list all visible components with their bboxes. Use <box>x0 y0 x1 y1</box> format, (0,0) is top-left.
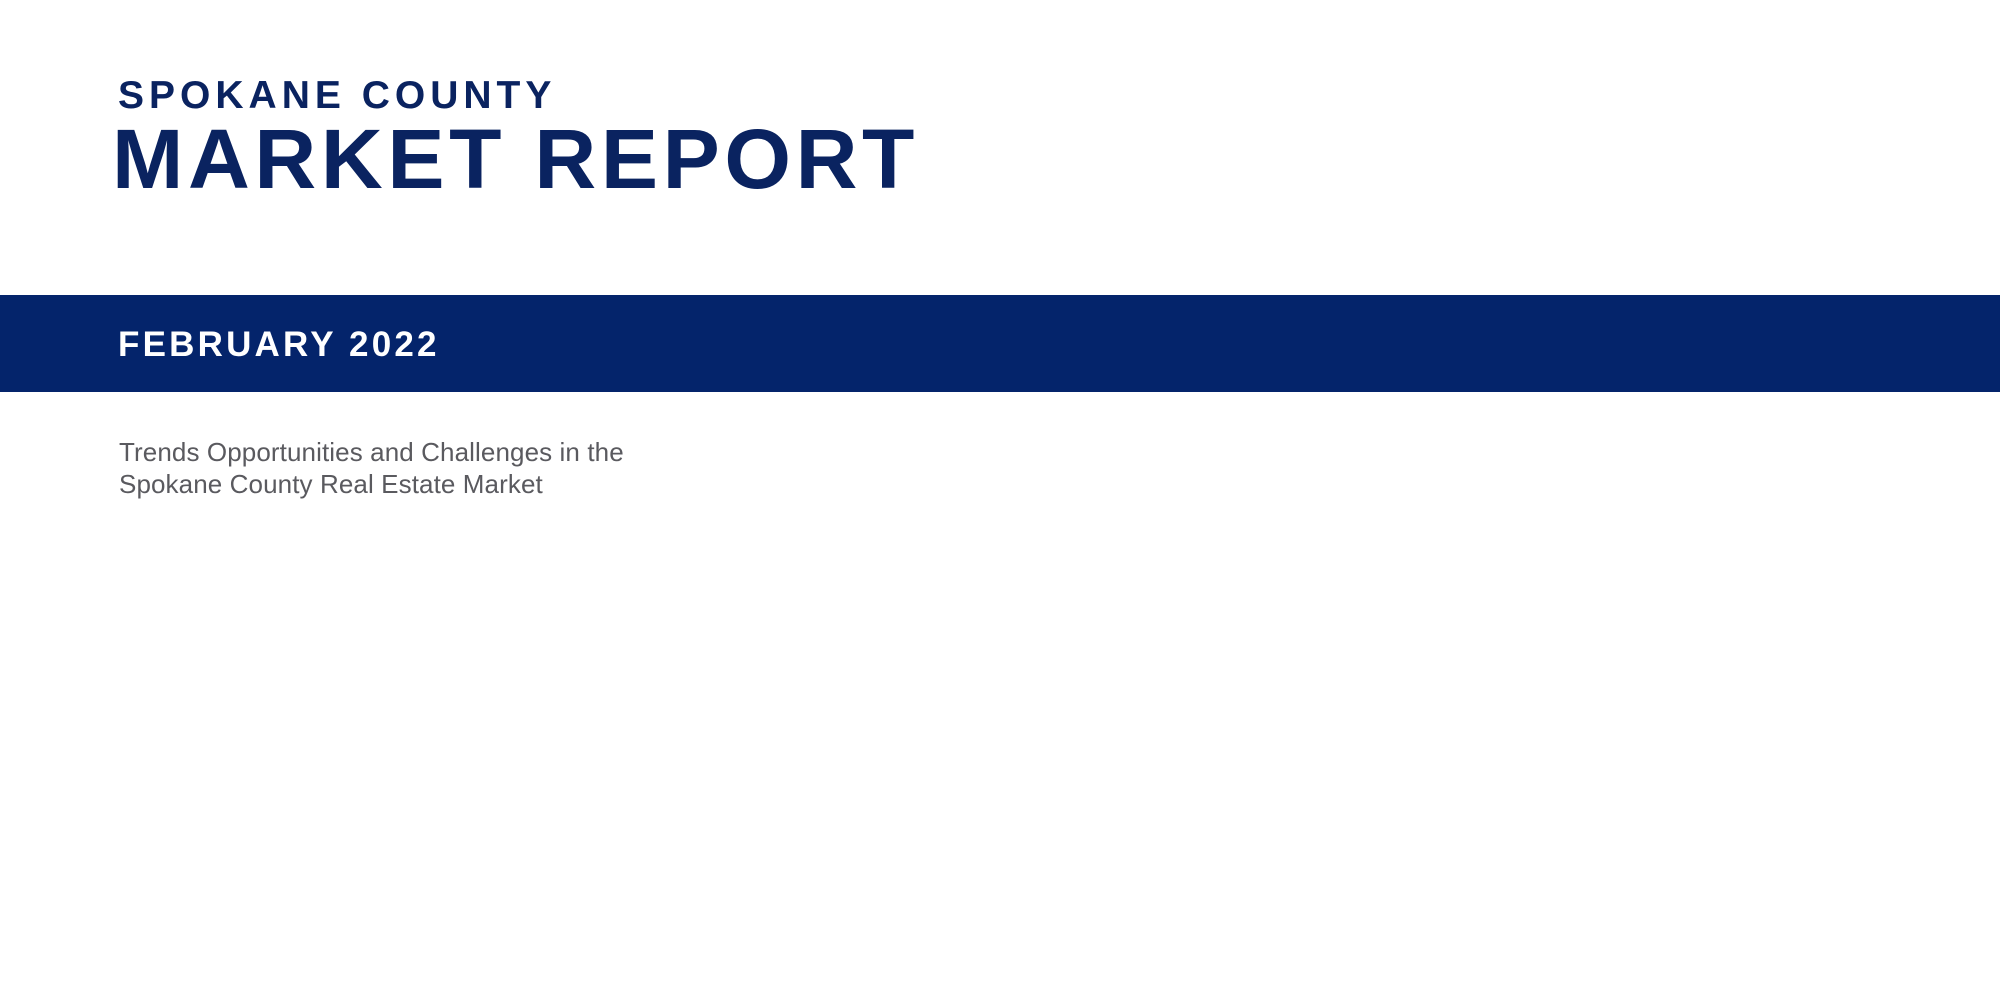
wave-line <box>0 685 2000 928</box>
wave-line <box>0 537 2000 741</box>
subtitle-block: Trends Opportunities and Challenges in t… <box>119 437 624 500</box>
wave-line <box>0 690 2000 955</box>
wave-line <box>0 798 2000 1000</box>
wave-line <box>0 577 2000 861</box>
wave-line <box>0 526 2000 725</box>
wave-line <box>0 699 2000 955</box>
wave-line <box>0 704 2000 980</box>
wave-line <box>0 573 2000 784</box>
wave-line <box>0 557 2000 844</box>
wave-line <box>0 585 2000 796</box>
wave-line <box>0 683 2000 935</box>
wave-line <box>0 719 2000 1000</box>
subtitle-line-1: Trends Opportunities and Challenges in t… <box>119 437 624 469</box>
wave-line <box>0 580 2000 807</box>
wave-line <box>0 688 2000 931</box>
wave-line <box>0 551 2000 842</box>
wave-line <box>0 551 2000 850</box>
wave-line <box>0 549 2000 851</box>
wave-line <box>0 687 2000 953</box>
date-band: FEBRUARY 2022 <box>0 295 2000 392</box>
wave-line <box>0 560 2000 770</box>
wave-line <box>0 633 2000 918</box>
wave-line <box>0 695 2000 956</box>
wave-line <box>0 683 2000 942</box>
wave-line <box>0 586 2000 874</box>
wave-line <box>0 596 2000 886</box>
wave-line <box>0 689 2000 946</box>
wave-line <box>0 702 2000 954</box>
wave-line <box>0 558 2000 831</box>
wave-line <box>0 548 2000 849</box>
wave-line <box>0 575 2000 817</box>
date-label: FEBRUARY 2022 <box>118 327 440 362</box>
wave-line <box>0 685 2000 951</box>
wave-line <box>0 776 2000 1000</box>
wave-line <box>0 698 2000 950</box>
page-title: MARKET REPORT <box>112 114 919 205</box>
wave-line <box>0 697 2000 964</box>
wave-line <box>0 548 2000 756</box>
wave-line <box>0 738 2000 1000</box>
wave-line-group <box>0 526 2000 1000</box>
wave-line <box>0 561 2000 840</box>
wave-line <box>0 785 2000 1000</box>
wave-line <box>0 683 2000 946</box>
wave-line <box>0 565 2000 833</box>
page-eyebrow: SPOKANE COUNTY <box>118 76 556 115</box>
report-cover-page: SPOKANE COUNTY MARKET REPORT FEBRUARY 20… <box>0 0 2000 1000</box>
wave-line <box>0 620 2000 909</box>
wave-line <box>0 549 2000 846</box>
wave-line <box>0 676 2000 941</box>
wave-line <box>0 711 2000 994</box>
wave-line <box>0 570 2000 848</box>
wave-line <box>0 570 2000 826</box>
wave-line <box>0 548 2000 850</box>
wave-line <box>0 662 2000 935</box>
wave-line <box>0 563 2000 834</box>
wave-line <box>0 647 2000 927</box>
wave-line <box>0 761 2000 1000</box>
wave-line <box>0 749 2000 1000</box>
wave-line <box>0 554 2000 837</box>
subtitle-line-2: Spokane County Real Estate Market <box>119 469 624 501</box>
wave-line <box>0 783 2000 1000</box>
wave-line <box>0 790 2000 1000</box>
wave-line <box>0 554 2000 848</box>
wave-line <box>0 692 2000 948</box>
wave-line <box>0 607 2000 897</box>
wave-line <box>0 728 2000 1000</box>
wave-line <box>0 773 2000 1000</box>
